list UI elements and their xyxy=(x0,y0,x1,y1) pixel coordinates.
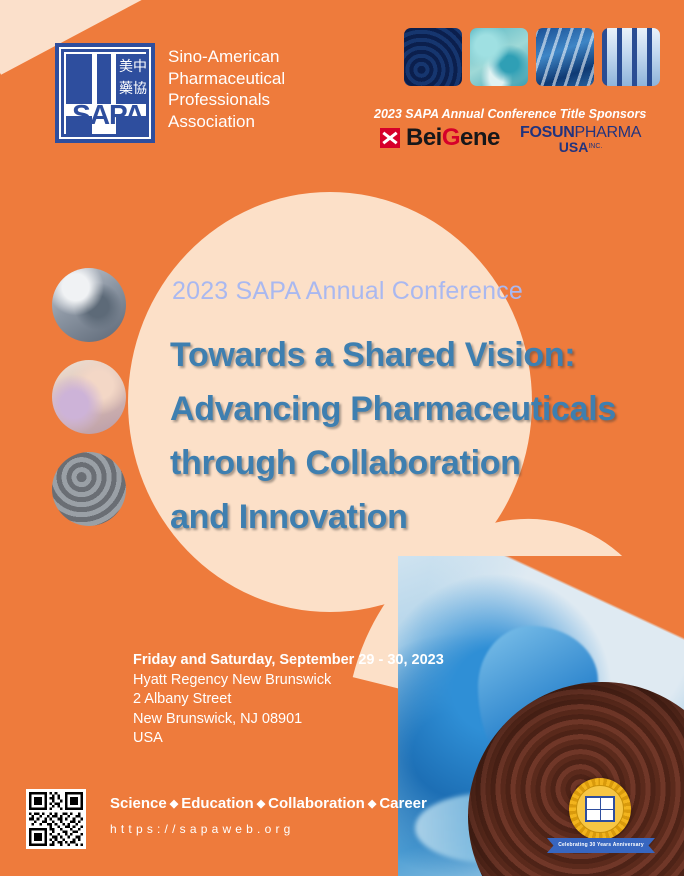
title-line: Towards a Shared Vision: xyxy=(170,328,670,382)
beigene-wordmark: BeiGene xyxy=(406,126,500,150)
fosun-usa: USA xyxy=(559,139,589,155)
anniversary-ribbon: Celebrating 30 Years Anniversary xyxy=(547,838,655,853)
qr-code[interactable] xyxy=(26,789,86,849)
qr-code-icon xyxy=(29,792,83,846)
sponsor-heading: 2023 SAPA Annual Conference Title Sponso… xyxy=(374,107,646,121)
venue-name: Hyatt Regency New Brunswick xyxy=(133,671,444,691)
event-date: Friday and Saturday, September 29 - 30, … xyxy=(133,651,444,671)
tagline-item: Career xyxy=(379,795,427,812)
logo-block-top-left xyxy=(66,54,92,104)
fosun-pharma-logo: FOSUNPHARMA USAINC. xyxy=(520,126,641,154)
organization-name: Sino-American Pharmaceutical Professiona… xyxy=(168,46,358,132)
logo-chinese-characters: 美中藥協 xyxy=(117,56,149,104)
medal-cell xyxy=(587,810,600,821)
vials-rack-photo xyxy=(602,28,660,86)
sapa-anniversary-seal xyxy=(569,778,631,840)
tagline: Science◆Education◆Collaboration◆Career xyxy=(110,795,427,812)
sponsor-logos: BeiGene FOSUNPHARMA USAINC. xyxy=(380,126,646,160)
abstract-blue-photo xyxy=(536,28,594,86)
venue-city: New Brunswick, NJ 08901 xyxy=(133,710,444,730)
medal-logo-icon xyxy=(585,796,615,822)
conference-title: Towards a Shared Vision: Advancing Pharm… xyxy=(170,328,670,544)
header-thumbnail-strip xyxy=(404,28,660,86)
fosun-line2: USAINC. xyxy=(520,140,641,154)
blister-pills-photo xyxy=(52,452,126,526)
tagline-item: Collaboration xyxy=(268,795,365,812)
title-line: through Collaboration xyxy=(170,436,670,490)
sapa-logo-icon: 美中藥協 SAPA xyxy=(55,43,155,143)
logo-block-top-mid xyxy=(97,54,111,104)
medal-cell xyxy=(601,810,614,821)
title-line: Advancing Pharmaceuticals xyxy=(170,382,670,436)
beigene-highlight: G xyxy=(442,124,460,151)
tagline-separator-icon: ◆ xyxy=(365,798,379,810)
medal-cell xyxy=(601,798,614,809)
fosun-inc: INC. xyxy=(588,143,602,150)
scientist-microscope-photo xyxy=(52,268,126,342)
conference-poster: 美中藥協 SAPA Sino-American Pharmaceutical P… xyxy=(0,0,684,876)
venue-street: 2 Albany Street xyxy=(133,690,444,710)
capsules-photo xyxy=(470,28,528,86)
medal-cell xyxy=(587,798,600,809)
website-url[interactable]: https://sapaweb.org xyxy=(110,822,295,836)
beigene-logo: BeiGene xyxy=(380,126,500,150)
fosun-line1: FOSUNPHARMA xyxy=(520,126,641,140)
logo-grid: 美中藥協 SAPA xyxy=(64,52,146,134)
tagline-item: Science xyxy=(110,795,167,812)
tagline-item: Education xyxy=(181,795,254,812)
lab-wells-photo xyxy=(404,28,462,86)
beigene-mark-icon xyxy=(380,128,400,148)
beigene-suffix: ene xyxy=(460,124,500,151)
tagline-separator-icon: ◆ xyxy=(167,798,181,810)
patient-care-photo xyxy=(52,360,126,434)
beigene-prefix: Bei xyxy=(406,124,442,151)
venue-country: USA xyxy=(133,729,444,749)
logo-acronym: SAPA xyxy=(64,101,152,129)
conference-subtitle: 2023 SAPA Annual Conference xyxy=(172,277,523,306)
tagline-separator-icon: ◆ xyxy=(254,798,268,810)
title-line: and Innovation xyxy=(170,490,670,544)
venue-details: Friday and Saturday, September 29 - 30, … xyxy=(133,651,444,749)
